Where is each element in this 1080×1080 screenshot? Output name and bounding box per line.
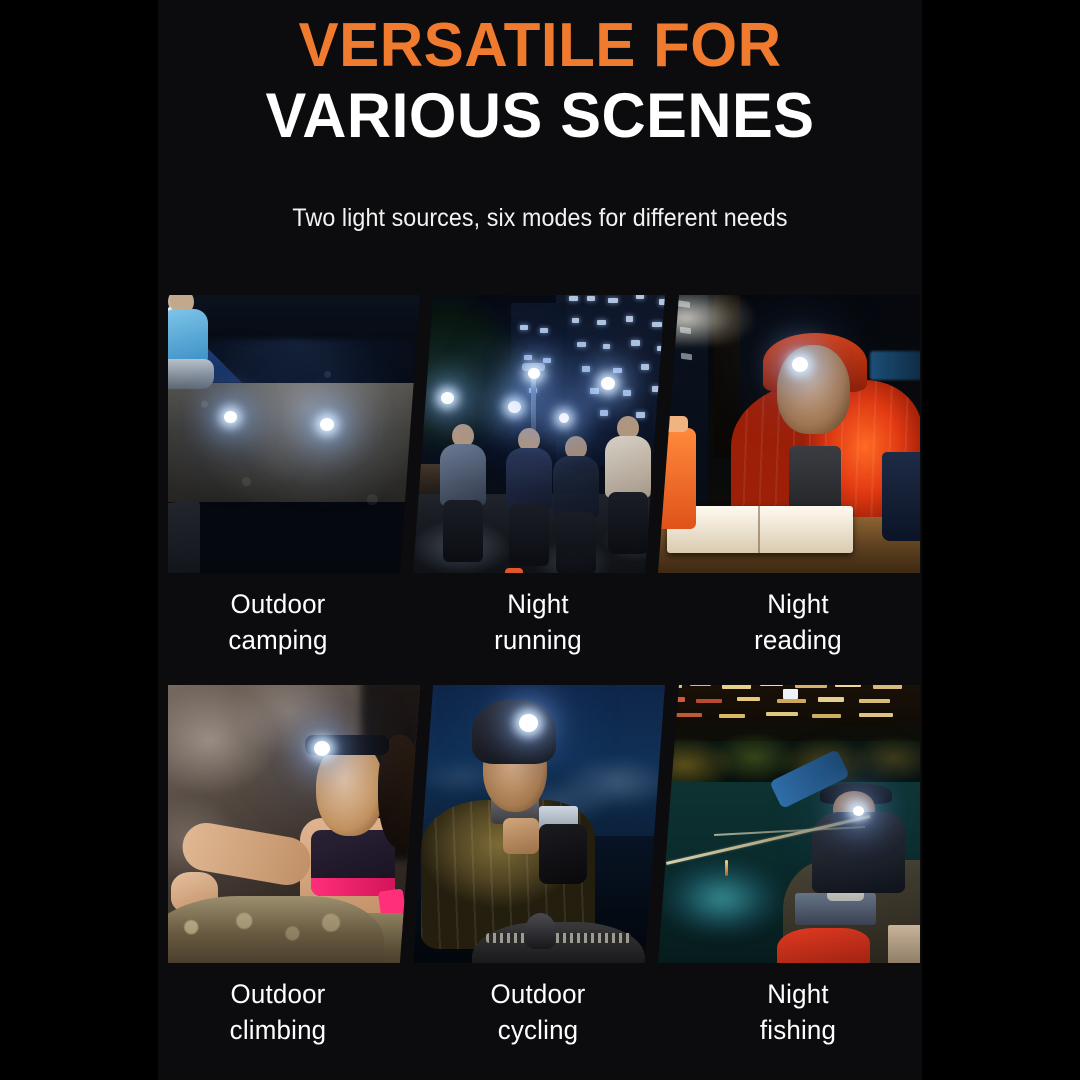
caption-line-2: climbing [158, 1012, 398, 1048]
running-photo [413, 295, 665, 573]
caption-line-1: Night [678, 976, 918, 1012]
headlamp-light-icon [314, 741, 330, 756]
scene-image-row-1 [168, 295, 920, 573]
caption-line-1: Outdoor [418, 976, 658, 1012]
caption-night-fishing: Night fishing [678, 976, 918, 1049]
caption-line-2: cycling [418, 1012, 658, 1048]
camping-photo [168, 295, 420, 573]
scene-image-row-2 [168, 685, 920, 963]
fishing-photo [658, 685, 920, 963]
headlamp-light-icon [792, 357, 808, 372]
caption-line-1: Night [678, 586, 918, 622]
reading-photo [658, 295, 920, 573]
headlamp-light-icon [320, 418, 334, 431]
content-panel: VERSATILE FOR VARIOUS SCENES Two light s… [158, 0, 922, 1080]
caption-line-2: reading [678, 622, 918, 658]
product-infographic: VERSATILE FOR VARIOUS SCENES Two light s… [0, 0, 1080, 1080]
scene-image-outdoor-camping [168, 295, 420, 573]
caption-row-1: Outdoor camping Night running Night read… [168, 586, 920, 678]
headlamp-light-icon [601, 377, 615, 390]
headlamp-light-icon [519, 714, 538, 732]
caption-line-1: Outdoor [158, 586, 398, 622]
caption-line-2: running [418, 622, 658, 658]
climbing-photo [168, 685, 420, 963]
caption-outdoor-cycling: Outdoor cycling [418, 976, 658, 1049]
scene-image-night-reading [658, 295, 920, 573]
headlamp-light-icon [559, 413, 569, 423]
scene-image-night-fishing [658, 685, 920, 963]
cycling-photo [413, 685, 665, 963]
headlamp-light-icon [224, 411, 237, 423]
caption-line-1: Outdoor [158, 976, 398, 1012]
subtitle: Two light sources, six modes for differe… [185, 204, 896, 233]
caption-row-2: Outdoor climbing Outdoor cycling Night f… [168, 976, 920, 1068]
caption-night-reading: Night reading [678, 586, 918, 659]
caption-night-running: Night running [418, 586, 658, 659]
caption-line-2: fishing [678, 1012, 918, 1048]
headline-primary: VERSATILE FOR [169, 17, 910, 75]
scene-image-outdoor-cycling [413, 685, 665, 963]
caption-line-1: Night [418, 586, 658, 622]
scene-image-night-running [413, 295, 665, 573]
headline-secondary: VARIOUS SCENES [169, 87, 910, 146]
caption-outdoor-climbing: Outdoor climbing [158, 976, 398, 1049]
caption-outdoor-camping: Outdoor camping [158, 586, 398, 659]
scene-image-outdoor-climbing [168, 685, 420, 963]
caption-line-2: camping [158, 622, 398, 658]
